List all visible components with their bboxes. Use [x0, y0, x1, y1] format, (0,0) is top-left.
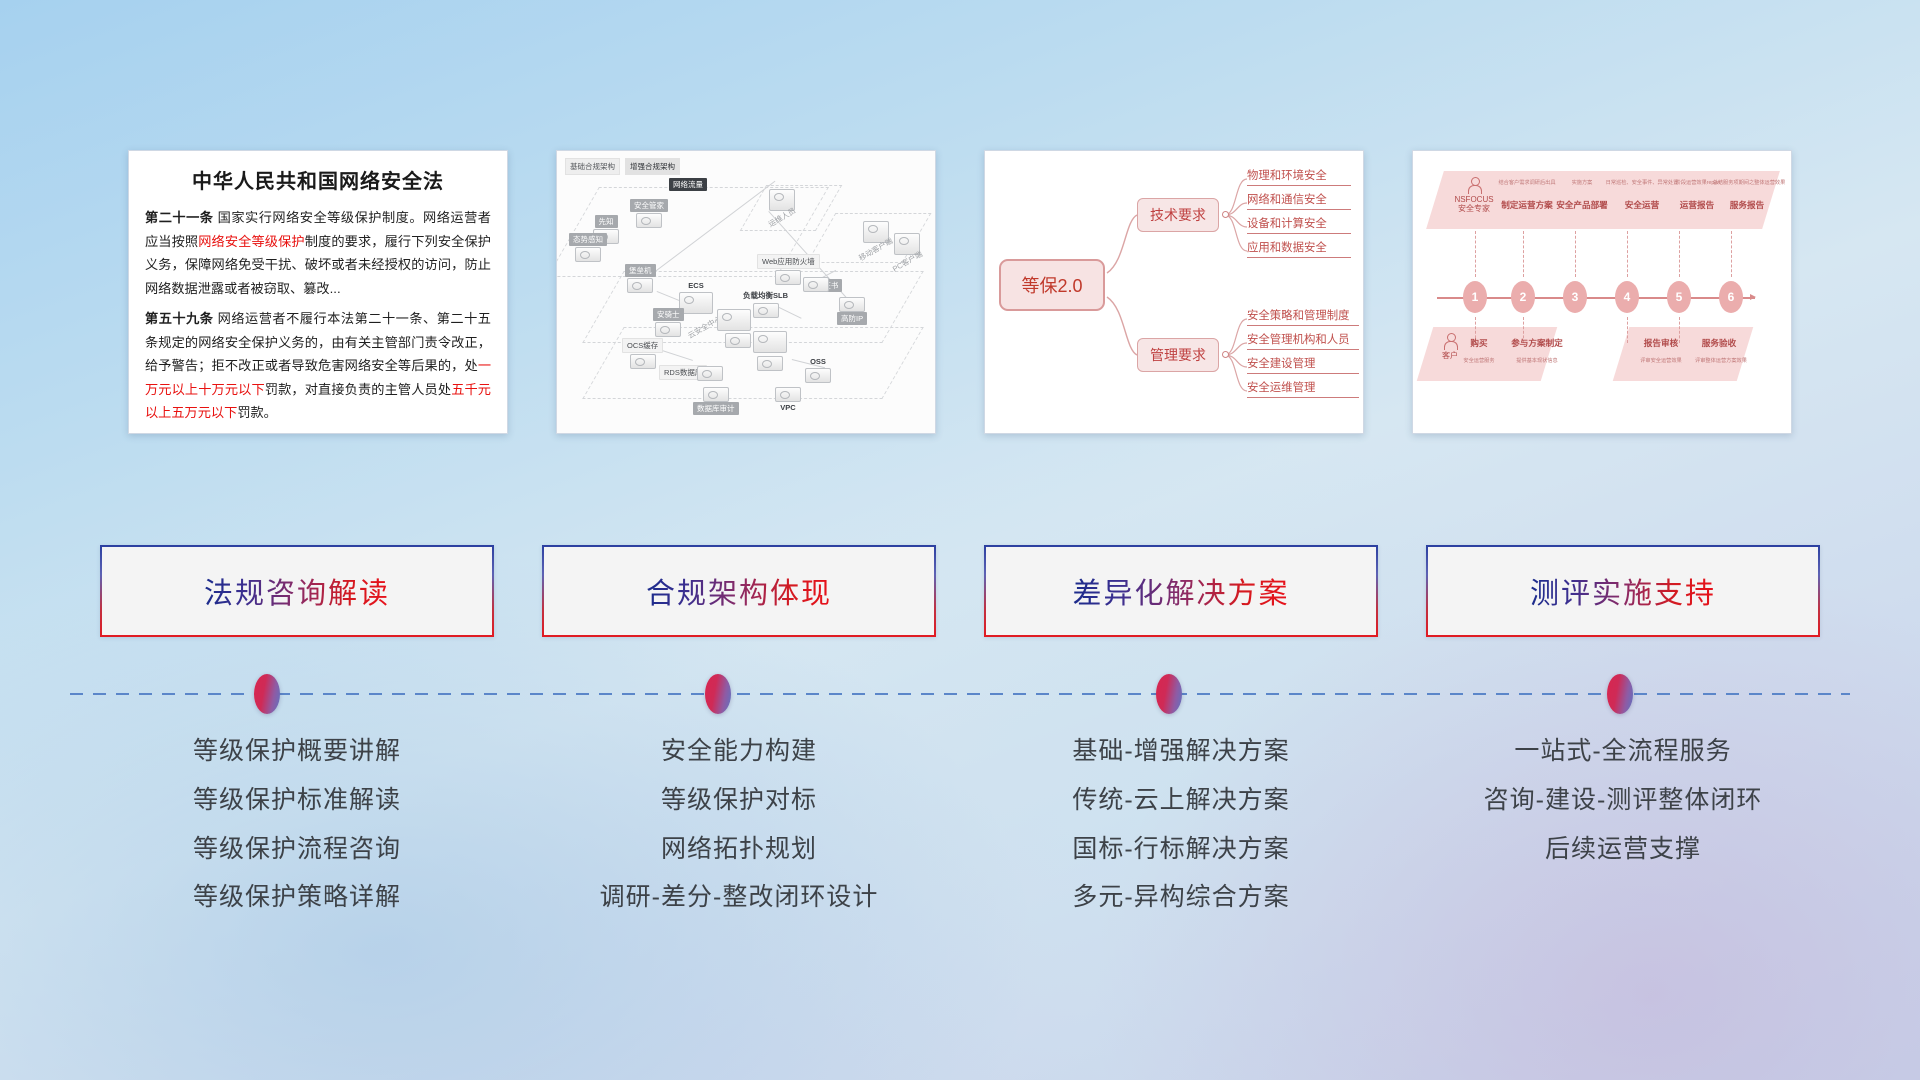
flow-band-bottom-right: [1613, 327, 1754, 381]
article-59-text-3: 罚款。: [237, 405, 277, 420]
server-cube-icon: [575, 247, 601, 262]
server-cube-icon: [803, 277, 829, 292]
node-label: 安骑士: [653, 308, 684, 321]
node-situational-awareness[interactable]: 态势感知: [569, 233, 607, 262]
node-ecs[interactable]: ECS: [679, 280, 713, 314]
node-label: OSS: [806, 356, 830, 367]
mindmap-leaf-mgmt-1[interactable]: 安全管理机构和人员: [1247, 331, 1359, 350]
mindmap-branch-management[interactable]: 管理要求: [1137, 338, 1219, 372]
section-list-0: 等级保护概要讲解 等级保护标准解读 等级保护流程咨询 等级保护策略详解: [100, 732, 494, 917]
server-cube-icon: [753, 303, 779, 318]
flow-step-6[interactable]: 6: [1719, 281, 1743, 313]
flow-top-label-4[interactable]: 服务报告: [1713, 199, 1781, 211]
section-header-box-2[interactable]: 差异化解决方案: [984, 545, 1378, 637]
customer-person-icon: [1443, 333, 1457, 350]
node-database-audit[interactable]: 数据库审计: [693, 387, 739, 416]
list-item: 多元-异构综合方案: [1072, 878, 1289, 917]
section-header-inner-1: 合规架构体现: [544, 547, 934, 635]
section-list-3: 一站式-全流程服务 咨询-建设-测评整体闭环 后续运营支撑: [1426, 732, 1820, 917]
server-cube-icon: [636, 213, 662, 228]
node-label: 数据库审计: [693, 402, 739, 415]
flow-connector-top-2: [1523, 231, 1524, 277]
mindmap-collapse-icon-technical[interactable]: [1222, 211, 1229, 218]
node-compute-instance-c: [753, 331, 787, 353]
flow-connector-top-6: [1731, 231, 1732, 277]
list-item: 等级保护标准解读: [193, 781, 401, 820]
node-label: 态势感知: [569, 233, 607, 246]
flow-connector-bottom-3: [1627, 317, 1628, 343]
list-item: 咨询-建设-测评整体闭环: [1484, 781, 1763, 820]
flow-step-3[interactable]: 3: [1563, 281, 1587, 313]
timeline-dot-1[interactable]: [705, 674, 731, 714]
article-21-highlight: 网络安全等级保护: [198, 234, 305, 249]
section-list-1: 安全能力构建 等级保护对标 网络拓扑规划 调研-差分-整改闭环设计: [542, 732, 936, 917]
law-article-59: 第五十九条 网络运营者不履行本法第二十一条、第二十五条规定的网络安全保护义务的，…: [145, 307, 491, 425]
node-ca-icon: [803, 277, 829, 292]
flow-step-1[interactable]: 1: [1463, 281, 1487, 313]
architecture-tab-enhanced[interactable]: 增强合规架构: [625, 158, 680, 175]
node-compute-instance-b: [725, 333, 751, 348]
mindmap-leaf-tech-3[interactable]: 应用和数据安全: [1247, 239, 1351, 258]
node-bastion-host[interactable]: 堡垒机: [625, 264, 656, 293]
node-ocs-cache[interactable]: OCS缓存: [622, 338, 663, 369]
mindmap-leaf-mgmt-0[interactable]: 安全策略和管理制度: [1247, 307, 1359, 326]
node-network-traffic[interactable]: 网络流量: [669, 178, 707, 192]
architecture-tabs[interactable]: 基础合规架构 增强合规架构: [565, 158, 680, 175]
section-header-box-0[interactable]: 法规咨询解读: [100, 545, 494, 637]
flow-bottom-sub-0: 安全运营服务: [1453, 357, 1505, 364]
server-cube-icon: [839, 297, 865, 312]
flow-connector-top-4: [1627, 231, 1628, 277]
node-label: 网络流量: [669, 178, 707, 191]
flow-bottom-label-0[interactable]: 购买: [1459, 337, 1499, 349]
flow-bottom-sub-1: 提供基本现状信息: [1501, 357, 1573, 364]
node-label: Web应用防火墙: [757, 254, 820, 269]
card-service-flow[interactable]: NSFOCUS 安全专家 结合客户需求调研后出具 制定运营方案 实施方案 安全产…: [1412, 150, 1792, 434]
server-cube-icon: [753, 331, 787, 353]
mindmap-leaf-tech-1[interactable]: 网络和通信安全: [1247, 191, 1351, 210]
mindmap-leaf-mgmt-2[interactable]: 安全建设管理: [1247, 355, 1359, 374]
flow-step-4[interactable]: 4: [1615, 281, 1639, 313]
law-article-21: 第二十一条 国家实行网络安全等级保护制度。网络运营者应当按照网络安全等级保护制度…: [145, 206, 491, 300]
law-title: 中华人民共和国网络安全法: [145, 165, 491, 194]
server-cube-icon: [805, 368, 831, 383]
list-item: 国标-行标解决方案: [1072, 830, 1289, 869]
server-cube-icon: [630, 354, 656, 369]
node-security-butler[interactable]: 安全管家: [630, 199, 668, 228]
node-label: ECS: [684, 280, 707, 291]
list-item: 一站式-全流程服务: [1514, 732, 1731, 771]
architecture-diagram: 网络流量 安全管家 先知 态势感知 堡垒机 ECS: [557, 151, 935, 433]
list-item: 调研-差分-整改闭环设计: [600, 878, 879, 917]
node-label: OCS缓存: [622, 338, 663, 353]
section-header-inner-2: 差异化解决方案: [986, 547, 1376, 635]
section-headers-row: 法规咨询解读 合规架构体现 差异化解决方案 测评实施支持: [0, 545, 1920, 637]
flow-step-2[interactable]: 2: [1511, 281, 1535, 313]
node-slb[interactable]: 负载均衡SLB: [739, 289, 792, 318]
card-cloud-architecture[interactable]: 基础合规架构 增强合规架构 网络流量 安全管家: [556, 150, 936, 434]
node-label: 先知: [595, 215, 618, 228]
node-cloud-security-center[interactable]: 云安全中心: [685, 332, 731, 346]
list-item: 等级保护概要讲解: [193, 732, 401, 771]
card-cybersecurity-law[interactable]: 中华人民共和国网络安全法 第二十一条 国家实行网络安全等级保护制度。网络运营者应…: [128, 150, 508, 434]
section-header-title-1: 合规架构体现: [646, 570, 832, 612]
node-label: 安全管家: [630, 199, 668, 212]
section-header-box-3[interactable]: 测评实施支持: [1426, 545, 1820, 637]
preview-cards-row: 中华人民共和国网络安全法 第二十一条 国家实行网络安全等级保护制度。网络运营者应…: [0, 150, 1920, 440]
article-21-label: 第二十一条: [145, 210, 213, 225]
list-item: 安全能力构建: [661, 732, 817, 771]
mindmap-collapse-icon-management[interactable]: [1222, 351, 1229, 358]
mindmap-leaf-tech-2[interactable]: 设备和计算安全: [1247, 215, 1351, 234]
node-label: VPC: [776, 402, 799, 413]
timeline: [70, 693, 1850, 695]
node-label: 高防IP: [837, 312, 867, 325]
section-lists-row: 等级保护概要讲解 等级保护标准解读 等级保护流程咨询 等级保护策略详解 安全能力…: [0, 732, 1920, 917]
server-cube-icon: [627, 278, 653, 293]
server-cube-icon: [775, 270, 801, 285]
server-cube-icon: [703, 387, 729, 402]
node-vpc[interactable]: VPC: [775, 387, 801, 414]
list-item: 基础-增强解决方案: [1072, 732, 1289, 771]
timeline-dot-2[interactable]: [1156, 674, 1182, 714]
mindmap-root-node[interactable]: 等保2.0: [999, 259, 1105, 311]
flow-top-sub-4: 总结服务项期间之整体运营效果: [1709, 179, 1789, 186]
node-anqishi[interactable]: 安骑士: [653, 308, 684, 337]
timeline-dot-3[interactable]: [1607, 674, 1633, 714]
server-cube-icon: [655, 322, 681, 337]
mindmap-leaf-tech-0[interactable]: 物理和环境安全: [1247, 167, 1351, 186]
section-header-inner-3: 测评实施支持: [1428, 547, 1818, 635]
expert-person-icon: [1467, 177, 1481, 194]
list-item: 网络拓扑规划: [661, 830, 817, 869]
server-cube-icon: [775, 387, 801, 402]
node-pc-client[interactable]: PC客户端: [887, 233, 928, 269]
section-header-title-2: 差异化解决方案: [1072, 570, 1289, 612]
card-dengbao-mindmap[interactable]: 等保2.0 技术要求 物理和环境安全 网络和通信安全 设备和计算安全 应用和数据…: [984, 150, 1364, 434]
flow-connector-top-1: [1475, 231, 1476, 277]
list-item: 传统-云上解决方案: [1072, 781, 1289, 820]
node-ops-staff[interactable]: 运维人员: [763, 189, 801, 225]
node-label: 负载均衡SLB: [739, 289, 792, 302]
server-cube-icon: [757, 356, 783, 371]
server-cube-icon: [697, 366, 723, 381]
node-label: 堡垒机: [625, 264, 656, 277]
list-item: 等级保护流程咨询: [193, 830, 401, 869]
server-cube-icon: [679, 292, 713, 314]
section-header-title-3: 测评实施支持: [1530, 570, 1716, 612]
mindmap-branch-technical[interactable]: 技术要求: [1137, 198, 1219, 232]
flow-connector-top-5: [1679, 231, 1680, 277]
flow-bottom-label-2[interactable]: 报告审核: [1633, 337, 1689, 349]
node-rds-icon: [697, 366, 723, 381]
section-list-2: 基础-增强解决方案 传统-云上解决方案 国标-行标解决方案 多元-异构综合方案: [984, 732, 1378, 917]
section-header-box-1[interactable]: 合规架构体现: [542, 545, 936, 637]
mindmap-leaf-mgmt-3[interactable]: 安全运维管理: [1247, 379, 1359, 398]
flow-bottom-sub-3: 评审整体运营方案效果: [1685, 357, 1757, 364]
timeline-dashed-line: [70, 693, 1850, 695]
section-header-title-0: 法规咨询解读: [204, 570, 390, 612]
flow-step-5[interactable]: 5: [1667, 281, 1691, 313]
list-item: 后续运营支撑: [1545, 830, 1701, 869]
node-oss[interactable]: OSS: [805, 356, 831, 383]
section-header-inner-0: 法规咨询解读: [102, 547, 492, 635]
node-compute-instance-d: [757, 356, 783, 371]
node-anti-ddos-ip[interactable]: 高防IP: [837, 297, 867, 326]
server-cube-icon: [725, 333, 751, 348]
list-item: 等级保护策略详解: [193, 878, 401, 917]
timeline-dot-0[interactable]: [254, 674, 280, 714]
flow-bottom-label-1[interactable]: 参与方案制定: [1501, 337, 1573, 349]
list-item: 等级保护对标: [661, 781, 817, 820]
article-59-label: 第五十九条: [145, 311, 213, 326]
architecture-tab-basic[interactable]: 基础合规架构: [565, 158, 620, 175]
article-59-text-2: 罚款，对直接负责的主管人员处: [265, 382, 451, 397]
flow-bottom-label-3[interactable]: 服务验收: [1691, 337, 1747, 349]
flow-connector-top-3: [1575, 231, 1576, 277]
